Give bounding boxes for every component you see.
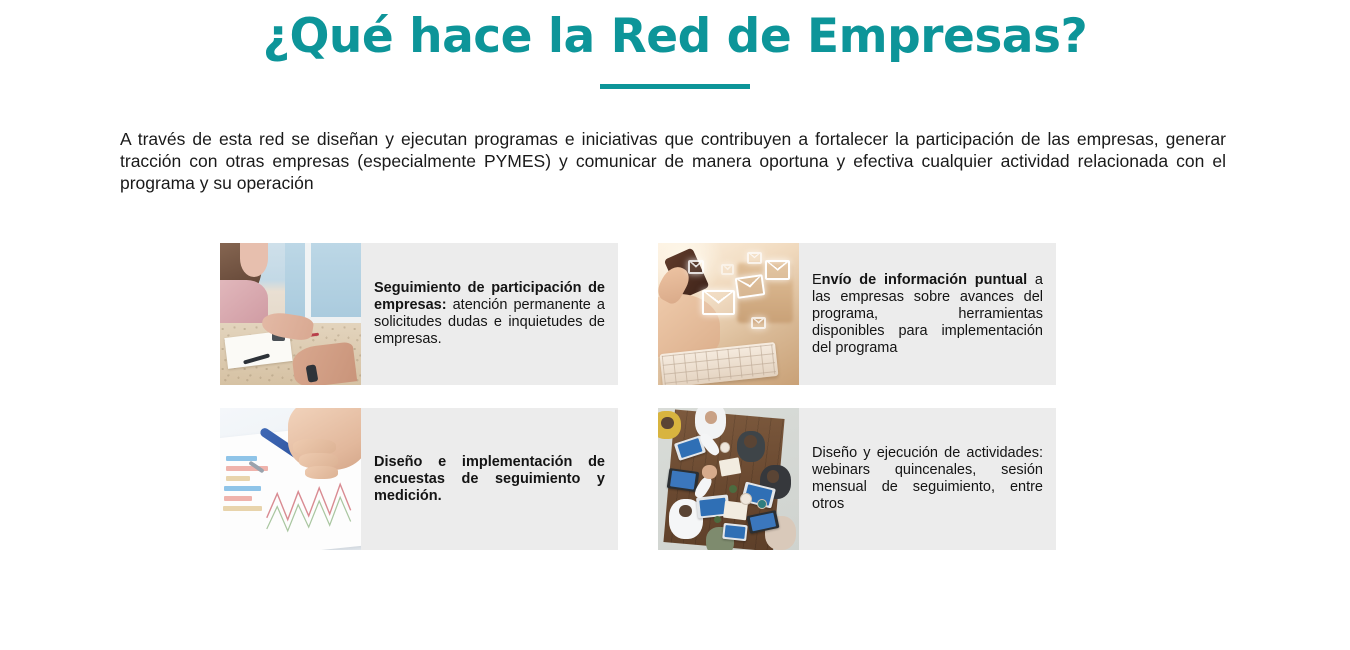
intro-paragraph: A través de esta red se diseñan y ejecut… bbox=[120, 128, 1226, 194]
envelope-icon bbox=[751, 317, 766, 330]
card-row-bottom: Diseño e implementación de encuestas de … bbox=[220, 408, 1056, 550]
envelope-icon bbox=[688, 260, 705, 274]
info-card-envio-informacion[interactable]: Envío de información puntual a las empre… bbox=[658, 243, 1056, 385]
chart-pen-photo bbox=[220, 408, 361, 550]
info-card-encuestas-seguimiento[interactable]: Diseño e implementación de encuestas de … bbox=[220, 408, 618, 550]
email-keyboard-photo bbox=[658, 243, 799, 385]
card-row-top: Seguimiento de participación de empresas… bbox=[220, 243, 1056, 385]
info-card-text: Envío de información puntual a las empre… bbox=[799, 243, 1056, 385]
envelope-icon bbox=[734, 274, 765, 299]
envelope-icon bbox=[765, 260, 790, 280]
info-card-actividades-webinars[interactable]: Diseño y ejecución de actividades: webin… bbox=[658, 408, 1056, 550]
info-card-lead: nvío de información puntual bbox=[822, 272, 1027, 288]
title-underline-rule bbox=[600, 84, 750, 89]
info-card-lead-prefix: E bbox=[812, 272, 822, 288]
team-table-photo bbox=[658, 408, 799, 550]
info-card-body: Diseño e implementación de encuestas de … bbox=[374, 454, 605, 504]
line-chart-graphic bbox=[265, 473, 352, 538]
page-title: ¿Qué hace la Red de Empresas? bbox=[0, 0, 1350, 61]
info-card-seguimiento-participacion[interactable]: Seguimiento de participación de empresas… bbox=[220, 243, 618, 385]
envelope-icon bbox=[747, 252, 762, 265]
info-card-text: Seguimiento de participación de empresas… bbox=[361, 243, 618, 385]
meeting-desk-photo bbox=[220, 243, 361, 385]
info-card-grid: Seguimiento de participación de empresas… bbox=[220, 243, 1056, 550]
info-card-text: Diseño y ejecución de actividades: webin… bbox=[799, 408, 1056, 550]
envelope-icon bbox=[702, 290, 736, 315]
info-card-body: Diseño y ejecución de actividades: webin… bbox=[812, 445, 1043, 512]
info-card-text: Diseño e implementación de encuestas de … bbox=[361, 408, 618, 550]
envelope-icon bbox=[721, 264, 733, 275]
